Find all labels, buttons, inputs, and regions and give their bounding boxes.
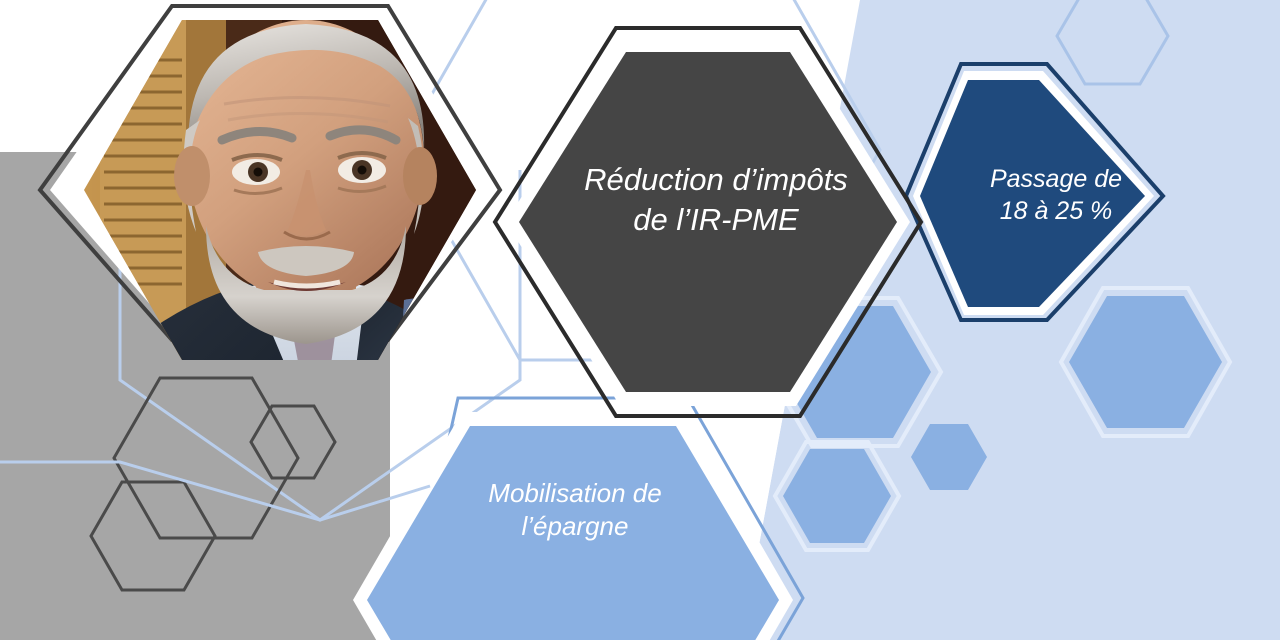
background-layer [0, 0, 1280, 640]
slide-canvas: Réduction d’impôts de l’IR-PME Passage d… [0, 0, 1280, 640]
